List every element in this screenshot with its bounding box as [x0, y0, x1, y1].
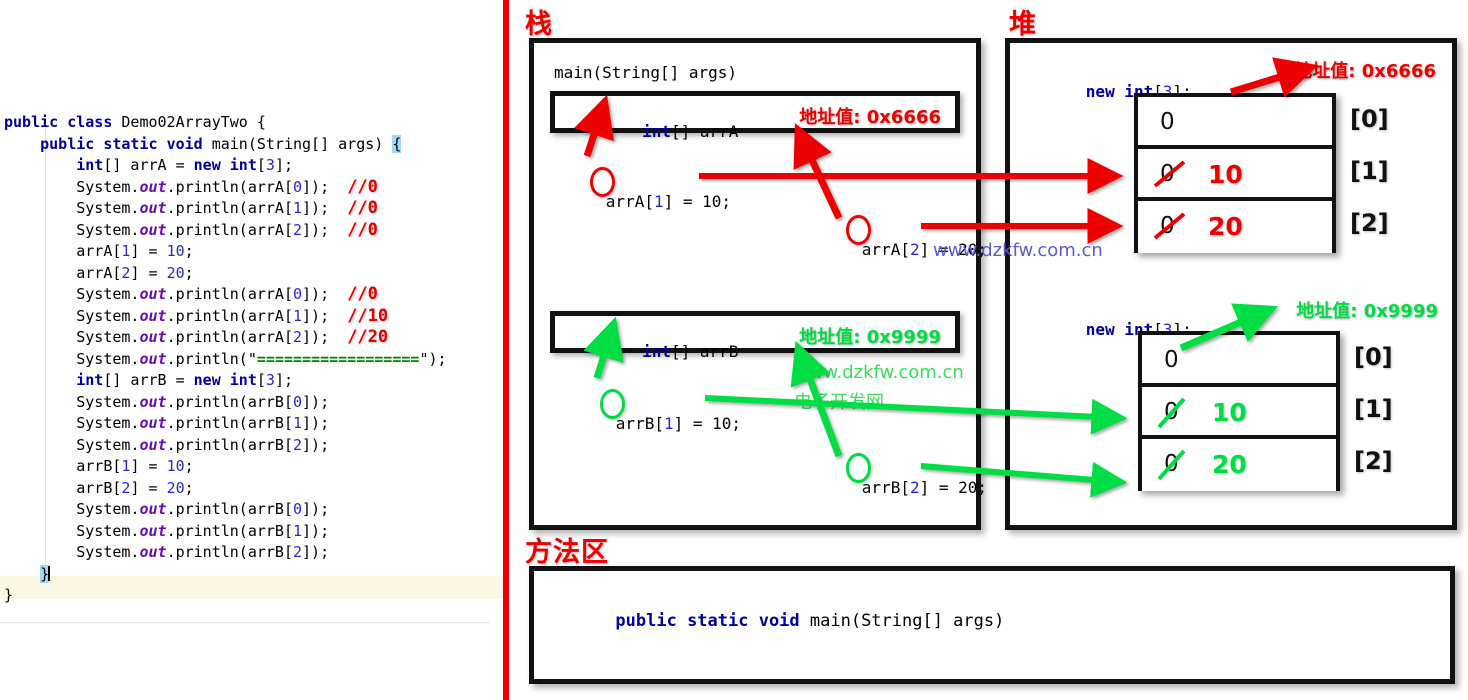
heap-box: new int[3]; 地址值: 0x6666 0 0 10 0 20	[1005, 38, 1457, 530]
code-line[interactable]: System.out.println(arrB[0]);	[0, 392, 505, 414]
heapA-cell-1-strikeout-icon	[1152, 157, 1192, 197]
code-editor-pane[interactable]: public class Demo02ArrayTwo { public sta…	[0, 0, 505, 700]
code-line[interactable]: System.out.println(arrB[1]);	[0, 413, 505, 435]
code-line[interactable]: arrB[2] = 20;	[0, 478, 505, 500]
arrA-index1-circle	[590, 167, 615, 197]
stmt-index: 1	[654, 192, 664, 211]
heapA-cell-0-value: 0	[1160, 109, 1175, 135]
arrA-address-label: 地址值: 0x6666	[799, 103, 941, 129]
heapB-cell-2-new: 20	[1212, 450, 1247, 479]
line-separator	[0, 622, 490, 623]
heapB-cell-0-value: 0	[1164, 347, 1179, 373]
code-line[interactable]: System.out.println("==================")…	[0, 349, 505, 371]
code-line[interactable]: public static void main(String[] args) {	[0, 134, 505, 156]
heapA-array-table: 0 0 10 0 20	[1134, 93, 1336, 253]
heapB-index-label-2: [2]	[1354, 447, 1393, 475]
arrB-index1-circle	[600, 389, 625, 419]
heapA-index-label-1: [1]	[1350, 157, 1389, 185]
heapB-cell-1-new: 10	[1212, 398, 1247, 427]
stack-frame-label: main(String[] args)	[554, 63, 737, 82]
heapB-array-table: 0 0 10 0 20	[1138, 331, 1340, 491]
stmt-prefix: arrA[	[862, 240, 910, 259]
code-line[interactable]: arrA[1] = 10;	[0, 241, 505, 263]
stack-stmt-arrB-2: arrB[2] = 20;	[804, 459, 987, 516]
code-line[interactable]: int[] arrA = new int[3];	[0, 155, 505, 177]
method-area-signature: public static void main(String[] args)	[554, 591, 1004, 651]
arrA-type: int	[642, 122, 671, 141]
heapB-cell-2-strikeout-icon	[1156, 447, 1196, 487]
method-area-box: public static void main(String[] args)	[529, 566, 1455, 684]
code-line[interactable]: public class Demo02ArrayTwo {	[0, 112, 505, 134]
arrB-index2-circle	[846, 453, 871, 483]
heapB-cell-0: 0	[1142, 335, 1336, 387]
code-line[interactable]: System.out.println(arrA[1]); //0	[0, 198, 505, 220]
heap-zone-title: 堆	[1009, 2, 1037, 41]
stack-zone-title: 栈	[525, 2, 553, 41]
code-line[interactable]: arrB[1] = 10;	[0, 456, 505, 478]
watermark-url-blue: www.dzkfw.com.cn	[933, 240, 1103, 261]
heapA-cell-0: 0	[1138, 97, 1332, 149]
stmt-prefix: arrA[	[606, 192, 654, 211]
method-area-zone-title: 方法区	[525, 530, 609, 569]
heapA-cell-1-new: 10	[1208, 160, 1243, 189]
code-line[interactable]: arrA[2] = 20;	[0, 263, 505, 285]
heapA-cell-2-new: 20	[1208, 212, 1243, 241]
heapA-cell-2: 0 20	[1138, 201, 1332, 253]
heapB-cell-2: 0 20	[1142, 439, 1336, 491]
code-line[interactable]: System.out.println(arrB[2]);	[0, 542, 505, 564]
watermark-site-name-green: 电子开发网	[794, 388, 884, 414]
code-line[interactable]: System.out.println(arrA[0]); //0	[0, 284, 505, 306]
code-line[interactable]: }	[0, 564, 505, 586]
code-line[interactable]: System.out.println(arrB[2]);	[0, 435, 505, 457]
heapA-address-label: 地址值: 0x6666	[1294, 57, 1436, 83]
code-line[interactable]: int[] arrB = new int[3];	[0, 370, 505, 392]
code-line[interactable]: }	[0, 585, 505, 607]
code-line[interactable]: System.out.println(arrB[0]);	[0, 499, 505, 521]
heapA-index-label-0: [0]	[1350, 105, 1389, 133]
stack-slot-arrB: int[] arrB 地址值: 0x9999	[550, 311, 960, 353]
stmt-suffix: ] = 20;	[920, 478, 987, 497]
arrB-address-label: 地址值: 0x9999	[799, 323, 941, 349]
source-code-text[interactable]: public class Demo02ArrayTwo { public sta…	[0, 112, 505, 607]
arrA-index2-circle	[846, 215, 871, 245]
heapA-index-label-2: [2]	[1350, 209, 1389, 237]
stack-stmt-arrB-1: arrB[1] = 10;	[558, 395, 741, 452]
arrB-name: arrB	[700, 342, 739, 361]
stmt-prefix: arrB[	[616, 414, 664, 433]
stack-stmt-arrA-1: arrA[1] = 10;	[548, 173, 731, 230]
stmt-suffix: ] = 10;	[664, 192, 731, 211]
code-line[interactable]: System.out.println(arrA[0]); //0	[0, 177, 505, 199]
stmt-index: 2	[910, 478, 920, 497]
stmt-prefix: arrB[	[862, 478, 910, 497]
heapA-cell-2-strikeout-icon	[1152, 209, 1192, 249]
arrA-name: arrA	[700, 122, 739, 141]
stmt-index: 1	[664, 414, 674, 433]
stmt-index: 2	[910, 240, 920, 259]
heapB-address-label: 地址值: 0x9999	[1296, 297, 1438, 323]
heapB-index-label-1: [1]	[1354, 395, 1393, 423]
arrA-brackets: []	[671, 122, 690, 141]
stack-box: main(String[] args) int[] arrA 地址值: 0x66…	[529, 38, 981, 530]
watermark-url-green: www.dzkfw.com.cn	[794, 362, 964, 383]
code-line[interactable]: System.out.println(arrA[2]); //20	[0, 327, 505, 349]
code-line[interactable]: System.out.println(arrA[2]); //0	[0, 220, 505, 242]
arrB-brackets: []	[671, 342, 690, 361]
stack-slot-arrA: int[] arrA 地址值: 0x6666	[550, 91, 960, 133]
code-line[interactable]: System.out.println(arrA[1]); //10	[0, 306, 505, 328]
arrB-type: int	[642, 342, 671, 361]
memory-diagram-pane: 栈 堆 方法区 main(String[] args) int[] arrA 地…	[509, 0, 1468, 700]
heapB-cell-1-strikeout-icon	[1156, 395, 1196, 435]
heapB-cell-1: 0 10	[1142, 387, 1336, 439]
stmt-suffix: ] = 10;	[674, 414, 741, 433]
heapB-index-label-0: [0]	[1354, 343, 1393, 371]
code-line[interactable]: System.out.println(arrB[1]);	[0, 521, 505, 543]
heapA-cell-1: 0 10	[1138, 149, 1332, 201]
